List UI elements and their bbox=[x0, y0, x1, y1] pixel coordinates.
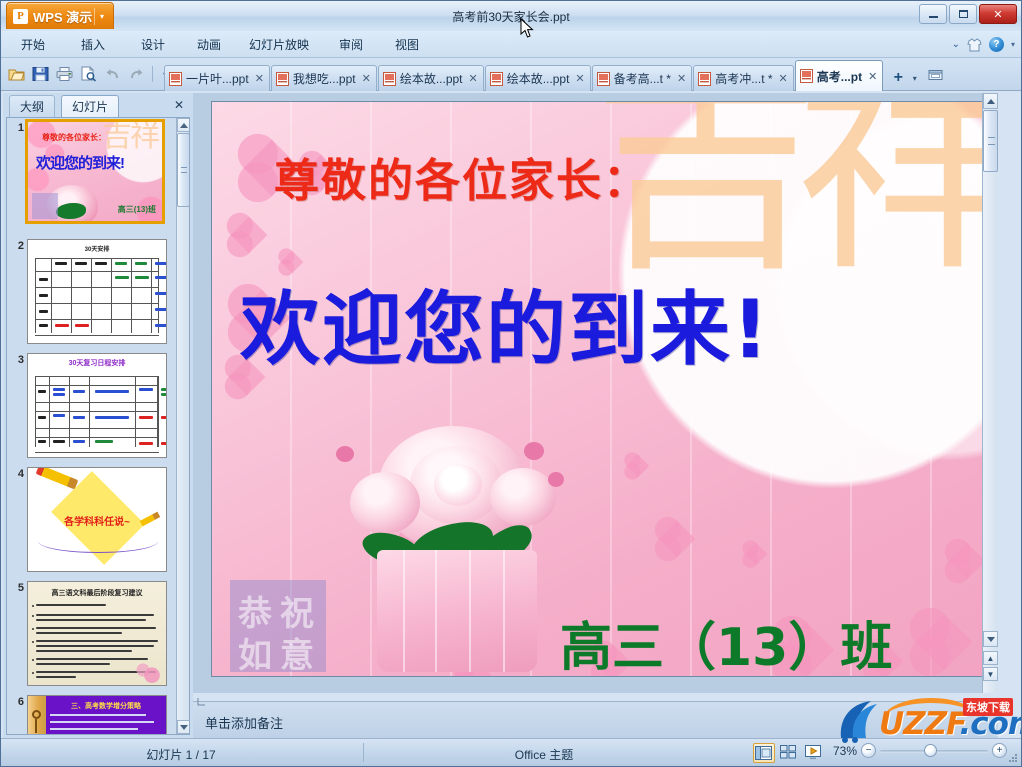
doc-tab-5[interactable]: 备考高...t * ✕ bbox=[592, 65, 693, 91]
normal-view-button[interactable] bbox=[753, 743, 775, 763]
menu-bar: 开始 插入 设计 动画 幻灯片放映 审阅 视图 ⌄ ? ▾ bbox=[1, 31, 1021, 58]
slide-thumbnail-4[interactable]: 各学科科任说~ bbox=[27, 467, 167, 572]
thumb-heading: 30天复习日程安排 bbox=[28, 358, 166, 368]
doc-tab-4[interactable]: 绘本故...ppt ✕ bbox=[485, 65, 591, 91]
ppt-file-icon bbox=[276, 72, 289, 86]
menu-item-view[interactable]: 视图 bbox=[387, 36, 427, 54]
document-title: 高考前30天家长会.ppt bbox=[1, 8, 1021, 25]
doc-tab-close-icon[interactable]: ✕ bbox=[253, 72, 264, 85]
list-item[interactable]: 4 各学科科任说~ bbox=[7, 464, 177, 578]
theme-name: Office 主题 bbox=[364, 746, 724, 763]
slide-class-label[interactable]: 高三（13）班 bbox=[560, 605, 892, 677]
new-tab-caret-icon[interactable]: ▾ bbox=[909, 66, 920, 90]
doc-tab-3[interactable]: 绘本故...ppt ✕ bbox=[378, 65, 484, 91]
flower-graphic bbox=[134, 657, 164, 683]
menu-item-animation[interactable]: 动画 bbox=[189, 36, 229, 54]
redo-button[interactable] bbox=[125, 63, 147, 85]
doc-tab-label: 绘本故...ppt bbox=[400, 70, 463, 87]
resize-grip-icon[interactable] bbox=[1008, 753, 1018, 763]
doc-tab-close-icon[interactable]: ✕ bbox=[573, 72, 584, 85]
ppt-file-icon bbox=[597, 72, 610, 86]
window-controls: ✕ bbox=[919, 4, 1017, 24]
zoom-percent: 73% bbox=[827, 744, 857, 758]
menu-item-insert[interactable]: 插入 bbox=[73, 36, 113, 54]
help-icon[interactable]: ? bbox=[989, 37, 1004, 52]
doc-tab-label: 绘本故...ppt bbox=[507, 70, 570, 87]
quick-access-toolbar: ▾ bbox=[5, 63, 172, 85]
notes-resize-handle[interactable] bbox=[197, 696, 209, 706]
thumb-table bbox=[35, 376, 159, 447]
slide-number: 3 bbox=[10, 354, 24, 366]
status-bar: 幻灯片 1 / 17 Office 主题 bbox=[1, 738, 1021, 766]
key-icon bbox=[32, 710, 41, 734]
doc-tab-close-icon[interactable]: ✕ bbox=[675, 72, 686, 85]
ppt-file-icon bbox=[698, 72, 711, 86]
window-list-icon[interactable] bbox=[926, 67, 946, 89]
thumb-heading: 30天安排 bbox=[28, 244, 166, 253]
slide-thumbnail-5[interactable]: 高三语文科最后阶段复习建议 bbox=[27, 581, 167, 686]
ppt-file-icon bbox=[490, 72, 503, 86]
triangle-up-icon bbox=[180, 123, 188, 128]
list-item[interactable]: 6 三、高考数学增分策略 bbox=[7, 692, 177, 734]
doc-tab-6[interactable]: 高考冲...t * ✕ bbox=[693, 65, 794, 91]
wps-presentation-window: P WPS 演示 ▾ 高考前30天家长会.ppt ✕ 开始 插入 设计 动画 幻… bbox=[0, 0, 1022, 767]
thumb-heading: 各学科科任说~ bbox=[28, 513, 166, 528]
doc-tab-close-icon[interactable]: ✕ bbox=[467, 72, 478, 85]
thumb-title-blue: 欢迎您的到来! bbox=[36, 152, 124, 173]
slide-number: 5 bbox=[10, 582, 24, 594]
view-buttons bbox=[753, 743, 825, 763]
slides-panel: 大纲 幻灯片 ✕ 1 吉祥 尊敬的各位家长： bbox=[3, 93, 193, 738]
thumb-heading: 高三语文科最后阶段复习建议 bbox=[28, 588, 166, 598]
doc-tab-1[interactable]: 一片叶...ppt ✕ bbox=[164, 65, 270, 91]
slide-thumbnail-6[interactable]: 三、高考数学增分策略 bbox=[27, 695, 167, 734]
doc-tab-label: 高考...pt bbox=[817, 68, 862, 85]
pencil-icon bbox=[36, 467, 79, 490]
new-tab-group: + ▾ bbox=[887, 65, 946, 91]
slide-number: 2 bbox=[10, 240, 24, 252]
slide-number: 4 bbox=[10, 468, 24, 480]
scroll-down-button[interactable] bbox=[983, 631, 998, 647]
zoom-out-button[interactable]: − bbox=[861, 743, 876, 758]
stamp-char-3: 如 bbox=[238, 628, 272, 677]
doc-tab-2[interactable]: 我想吃...ppt ✕ bbox=[271, 65, 377, 91]
panel-tabs: 大纲 幻灯片 ✕ bbox=[3, 93, 193, 117]
scroll-thumb[interactable] bbox=[983, 110, 998, 172]
slide-title-blue[interactable]: 欢迎您的到来! bbox=[240, 265, 770, 381]
ppt-file-icon bbox=[169, 72, 182, 86]
maximize-icon bbox=[950, 5, 976, 23]
skin-icon[interactable] bbox=[967, 38, 982, 52]
slides-scroll-region[interactable]: 1 吉祥 尊敬的各位家长： 欢迎您的到来! 高三(13)班 bbox=[7, 118, 177, 734]
next-slide-button[interactable]: ▼ bbox=[983, 667, 998, 681]
title-bar: P WPS 演示 ▾ 高考前30天家长会.ppt ✕ bbox=[1, 1, 1021, 31]
ppt-file-icon bbox=[800, 69, 813, 83]
previous-slide-button[interactable]: ▲ bbox=[983, 651, 998, 665]
menu-item-slideshow[interactable]: 幻灯片放映 bbox=[241, 36, 317, 54]
vase-graphic bbox=[377, 550, 537, 672]
tab-slides[interactable]: 幻灯片 bbox=[61, 95, 119, 117]
scroll-thumb[interactable] bbox=[177, 133, 190, 207]
kanji-watermark: 吉祥 bbox=[102, 124, 158, 150]
slide-thumbnail-1[interactable]: 吉祥 尊敬的各位家长： 欢迎您的到来! 高三(13)班 bbox=[25, 119, 165, 224]
slide-counter: 幻灯片 1 / 17 bbox=[1, 746, 361, 763]
slide-thumbnail-3[interactable]: 30天复习日程安排 bbox=[27, 353, 167, 458]
ppt-file-icon bbox=[383, 72, 396, 86]
print-button[interactable] bbox=[53, 63, 75, 85]
caret-down-icon[interactable]: ▾ bbox=[1011, 40, 1015, 49]
open-button[interactable] bbox=[5, 63, 27, 85]
triangle-down-icon bbox=[987, 637, 995, 642]
doc-tab-close-icon[interactable]: ✕ bbox=[777, 72, 788, 85]
zoom-slider[interactable] bbox=[880, 743, 988, 758]
zoom-in-button[interactable]: + bbox=[992, 743, 1007, 758]
close-button[interactable]: ✕ bbox=[979, 4, 1017, 24]
curve-graphic bbox=[38, 539, 158, 553]
menu-item-review[interactable]: 审阅 bbox=[331, 36, 371, 54]
close-icon: ✕ bbox=[980, 5, 1016, 23]
list-item[interactable]: 3 30天复习日程安排 bbox=[7, 350, 177, 464]
thumb-table bbox=[35, 258, 159, 333]
slide-canvas[interactable]: 吉祥 bbox=[211, 101, 988, 677]
print-preview-button[interactable] bbox=[77, 63, 99, 85]
list-item[interactable]: 2 30天安排 bbox=[7, 236, 177, 350]
stamp-graphic: 恭 祝 如 意 bbox=[230, 580, 326, 672]
zoom-controls: 73% − + bbox=[827, 743, 1007, 758]
doc-tab-close-icon[interactable]: ✕ bbox=[360, 72, 371, 85]
slides-list: 1 吉祥 尊敬的各位家长： 欢迎您的到来! 高三(13)班 bbox=[6, 117, 190, 735]
slide-thumbnail-2[interactable]: 30天安排 bbox=[27, 239, 167, 344]
slide-edit-area: 吉祥 bbox=[193, 93, 998, 693]
doc-tab-label: 备考高...t * bbox=[614, 70, 671, 87]
menu-item-design[interactable]: 设计 bbox=[133, 36, 173, 54]
scroll-up-button[interactable] bbox=[983, 93, 998, 109]
slides-panel-scrollbar[interactable] bbox=[176, 118, 189, 734]
doc-tab-7-active[interactable]: 高考...pt ✕ bbox=[795, 60, 884, 91]
doc-tab-label: 一片叶...ppt bbox=[186, 70, 249, 87]
doc-tab-label: 我想吃...ppt bbox=[293, 70, 356, 87]
slideshow-button[interactable] bbox=[803, 743, 825, 763]
undo-button[interactable] bbox=[101, 63, 123, 85]
triangle-down-icon bbox=[180, 725, 188, 730]
slide-title-red[interactable]: 尊敬的各位家长： bbox=[274, 144, 650, 209]
maximize-button[interactable] bbox=[949, 4, 977, 24]
side-band-graphic bbox=[28, 696, 46, 734]
triangle-up-icon bbox=[987, 99, 995, 104]
stamp-char-4: 意 bbox=[280, 628, 314, 677]
toolbar-separator bbox=[152, 66, 153, 82]
slide-number: 1 bbox=[10, 122, 24, 134]
list-item[interactable]: 1 吉祥 尊敬的各位家长： 欢迎您的到来! 高三(13)班 bbox=[7, 118, 177, 236]
doc-tab-close-icon[interactable]: ✕ bbox=[866, 70, 877, 83]
slide-scrollbar[interactable]: ▲ ▼ bbox=[982, 93, 998, 693]
menu-item-home[interactable]: 开始 bbox=[13, 36, 53, 54]
list-item[interactable]: 5 高三语文科最后阶段复习建议 bbox=[7, 578, 177, 692]
notes-pane[interactable]: 单击添加备注 bbox=[193, 701, 998, 738]
slide-number: 6 bbox=[10, 696, 24, 708]
scroll-up-button[interactable] bbox=[177, 118, 190, 132]
chevron-down-icon[interactable]: ⌄ bbox=[952, 39, 960, 50]
thumb-title-green: 高三(13)班 bbox=[118, 204, 156, 215]
menu-right-tools: ⌄ ? ▾ bbox=[952, 37, 1015, 52]
scroll-down-button[interactable] bbox=[177, 720, 190, 734]
notes-placeholder[interactable]: 单击添加备注 bbox=[205, 713, 283, 732]
thumb-heading: 三、高考数学增分策略 bbox=[48, 701, 164, 711]
tab-outline[interactable]: 大纲 bbox=[9, 95, 55, 117]
stamp-graphic bbox=[32, 193, 58, 219]
doc-tab-label: 高考冲...t * bbox=[715, 70, 772, 87]
zoom-slider-knob[interactable] bbox=[924, 744, 937, 757]
document-tabs: 一片叶...ppt ✕ 我想吃...ppt ✕ 绘本故...ppt ✕ bbox=[164, 58, 946, 91]
new-tab-button[interactable]: + bbox=[887, 66, 909, 90]
thumb-title-red: 尊敬的各位家长： bbox=[42, 132, 106, 143]
minimize-button[interactable] bbox=[919, 4, 947, 24]
document-tab-bar: ▾ 一片叶...ppt ✕ 我想吃...ppt ✕ 绘 bbox=[1, 58, 1021, 91]
panel-close-icon[interactable]: ✕ bbox=[171, 97, 187, 113]
minimize-icon bbox=[920, 5, 946, 23]
save-button[interactable] bbox=[29, 63, 51, 85]
slide-sorter-button[interactable] bbox=[778, 743, 800, 763]
